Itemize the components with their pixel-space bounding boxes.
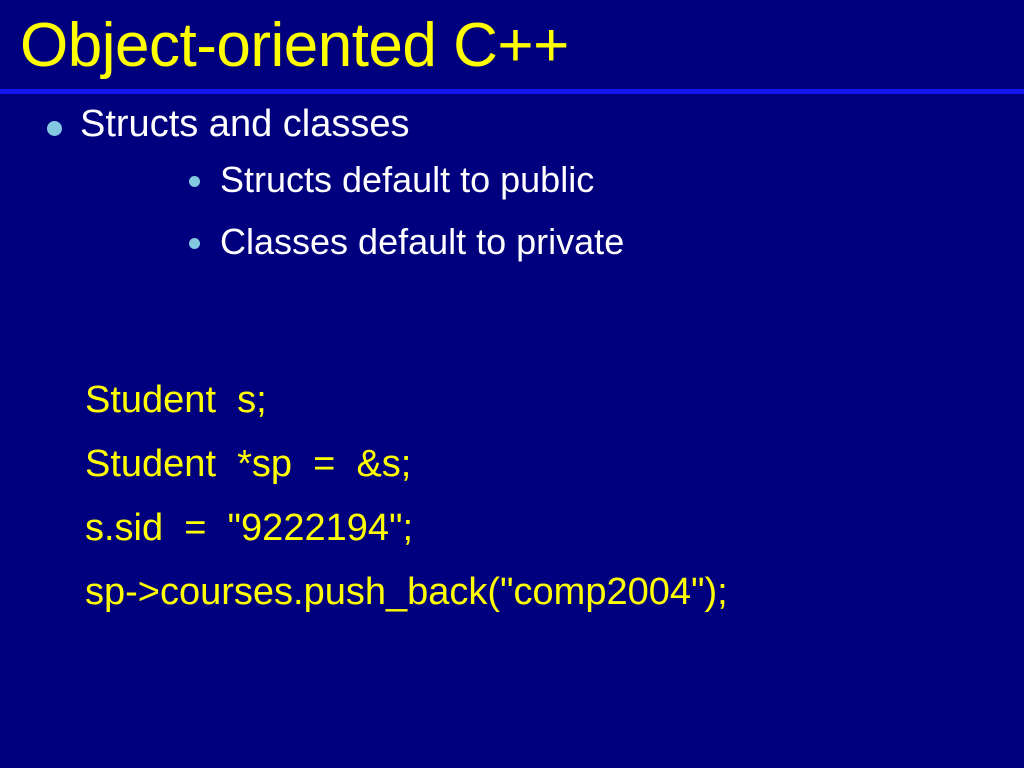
- code-line: Student s;: [85, 368, 728, 432]
- bullet-label: Structs and classes: [80, 103, 409, 145]
- bullet-item-level1: Structs and classes Structs default to p…: [0, 100, 1024, 273]
- bullet-item-level2: Structs default to public: [80, 149, 1024, 211]
- sub-bullet-label: Structs default to public: [220, 159, 594, 200]
- slide-body: Structs and classes Structs default to p…: [0, 100, 1024, 760]
- code-block: Student s; Student *sp = &s; s.sid = "92…: [85, 368, 728, 624]
- slide: Object-oriented C++ Structs and classes …: [0, 0, 1024, 768]
- title-divider: [0, 89, 1024, 94]
- code-line: sp->courses.push_back("comp2004");: [85, 560, 728, 624]
- bullet-item-level2: Classes default to private: [80, 211, 1024, 273]
- page-title: Object-oriented C++: [20, 7, 569, 85]
- code-line: s.sid = "9222194";: [85, 496, 728, 560]
- code-line: Student *sp = &s;: [85, 432, 728, 496]
- sub-bullet-list: Structs default to public Classes defaul…: [80, 149, 1024, 273]
- bullet-list: Structs and classes Structs default to p…: [0, 100, 1024, 273]
- sub-bullet-marker-icon: [189, 238, 200, 249]
- sub-bullet-label: Classes default to private: [220, 221, 624, 262]
- sub-bullet-marker-icon: [189, 176, 200, 187]
- slide-title-area: Object-oriented C++: [0, 0, 1024, 90]
- bullet-marker-icon: [47, 121, 62, 136]
